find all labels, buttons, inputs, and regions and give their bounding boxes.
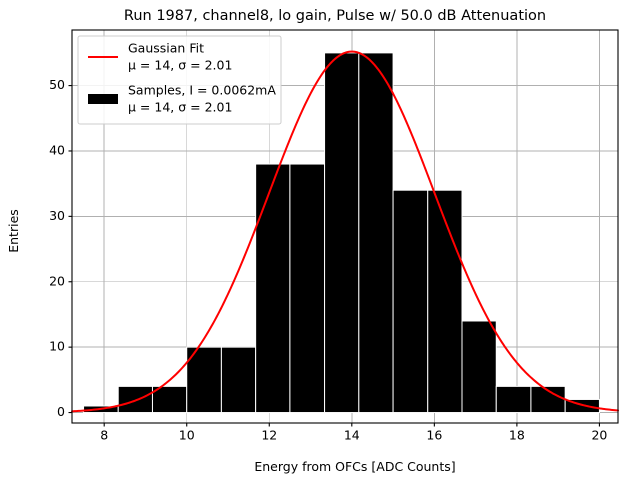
legend-entry-params: μ = 14, σ = 2.01	[128, 100, 232, 115]
y-tick-label: 0	[57, 404, 65, 419]
histogram-bar	[496, 386, 531, 412]
x-tick-label: 10	[179, 428, 195, 443]
matplotlib-figure: Run 1987, channel8, lo gain, Pulse w/ 50…	[0, 0, 640, 480]
x-axis-label: Energy from OFCs [ADC Counts]	[254, 459, 455, 474]
histogram-bar	[325, 53, 359, 413]
x-tick-label: 20	[591, 428, 607, 443]
chart-title: Run 1987, channel8, lo gain, Pulse w/ 50…	[124, 8, 546, 24]
histogram-bar	[290, 164, 325, 412]
histogram-bar	[221, 347, 255, 412]
histogram-chart: Run 1987, channel8, lo gain, Pulse w/ 50…	[0, 0, 640, 480]
legend-entry-title: Samples, I = 0.0062mA	[128, 83, 276, 98]
x-tick-label: 14	[344, 428, 360, 443]
legend-entry-title: Gaussian Fit	[128, 41, 204, 56]
histogram-bar	[256, 164, 290, 412]
y-tick-label: 40	[49, 142, 65, 157]
x-tick-label: 18	[509, 428, 525, 443]
histogram-bar	[462, 321, 496, 413]
y-tick-label: 20	[49, 273, 65, 288]
x-tick-label: 16	[426, 428, 442, 443]
y-axis-label: Entries	[6, 209, 21, 253]
histogram-bar	[359, 53, 393, 413]
legend-patch-swatch	[88, 94, 118, 104]
y-tick-label: 50	[49, 77, 65, 92]
legend-entry-params: μ = 14, σ = 2.01	[128, 58, 232, 73]
y-tick-label: 30	[49, 208, 65, 223]
x-tick-label: 8	[100, 428, 108, 443]
y-tick-label: 10	[49, 339, 65, 354]
x-tick-label: 12	[261, 428, 277, 443]
histogram-bar	[393, 190, 428, 412]
histogram-bar	[118, 386, 152, 412]
chart-legend: Gaussian Fitμ = 14, σ = 2.01Samples, I =…	[78, 36, 281, 124]
histogram-bar	[428, 190, 462, 412]
